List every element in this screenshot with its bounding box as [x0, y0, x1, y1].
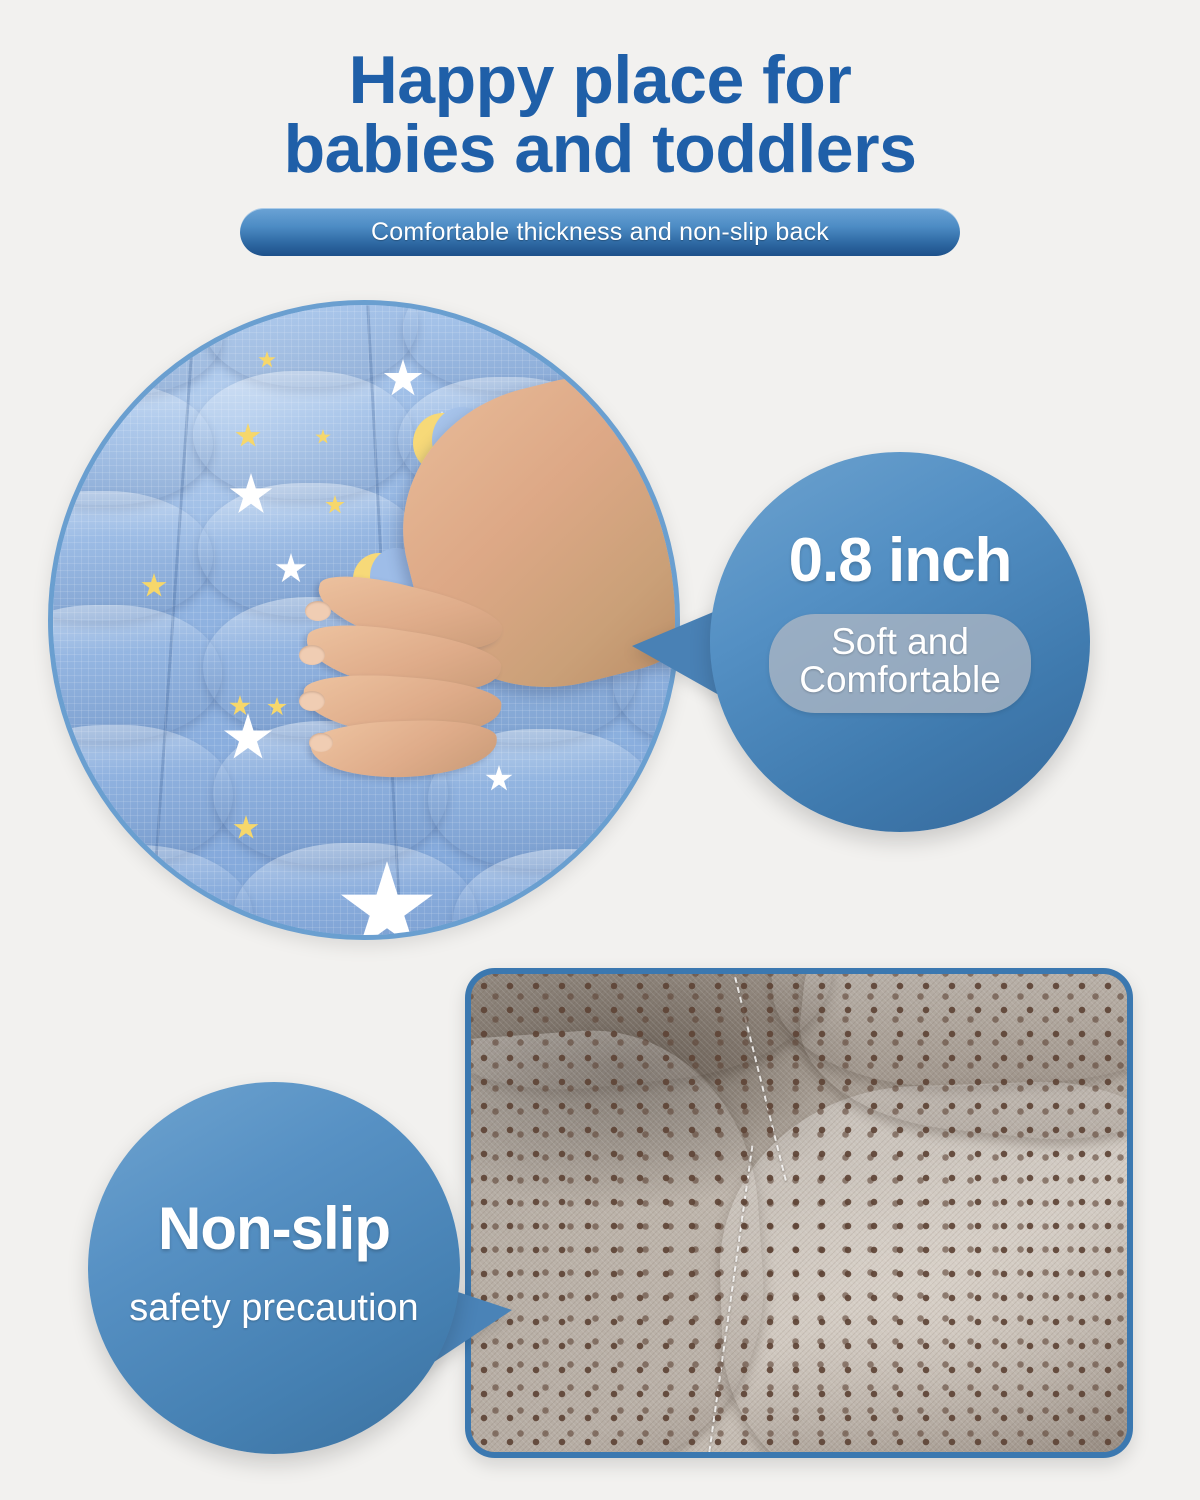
quilted-pad-illustration: [53, 305, 675, 935]
fingernail: [299, 645, 325, 665]
nonslip-callout: Non-slip safety precaution: [88, 1082, 460, 1454]
nonslip-title: Non-slip: [158, 1199, 390, 1259]
fingernail: [309, 733, 333, 752]
subtitle-banner-label: Comfortable thickness and non-slip back: [371, 218, 829, 247]
title-line-1: Happy place for: [349, 42, 852, 118]
nonslip-dot-grid-secondary: [471, 974, 1127, 1452]
comfort-pill-line-2: Comfortable: [799, 661, 1001, 699]
mattress-top-photo: [48, 300, 680, 940]
nonslip-subtitle: safety precaution: [129, 1289, 418, 1327]
nonslip-backing-photo: [465, 968, 1133, 1458]
comfort-pill-badge: Soft and Comfortable: [769, 614, 1031, 713]
thickness-callout: 0.8 inch Soft and Comfortable: [710, 452, 1090, 832]
thickness-value: 0.8 inch: [789, 530, 1012, 592]
title-line-2: babies and toddlers: [0, 115, 1200, 184]
fingernail: [299, 691, 325, 711]
fingernail: [305, 601, 331, 621]
page-title: Happy place for babies and toddlers: [0, 46, 1200, 185]
nonslip-callout-bubble: Non-slip safety precaution: [88, 1082, 460, 1454]
subtitle-banner: Comfortable thickness and non-slip back: [240, 208, 960, 256]
comfort-pill-line-1: Soft and: [799, 623, 1001, 661]
thickness-callout-bubble: 0.8 inch Soft and Comfortable: [710, 452, 1090, 832]
